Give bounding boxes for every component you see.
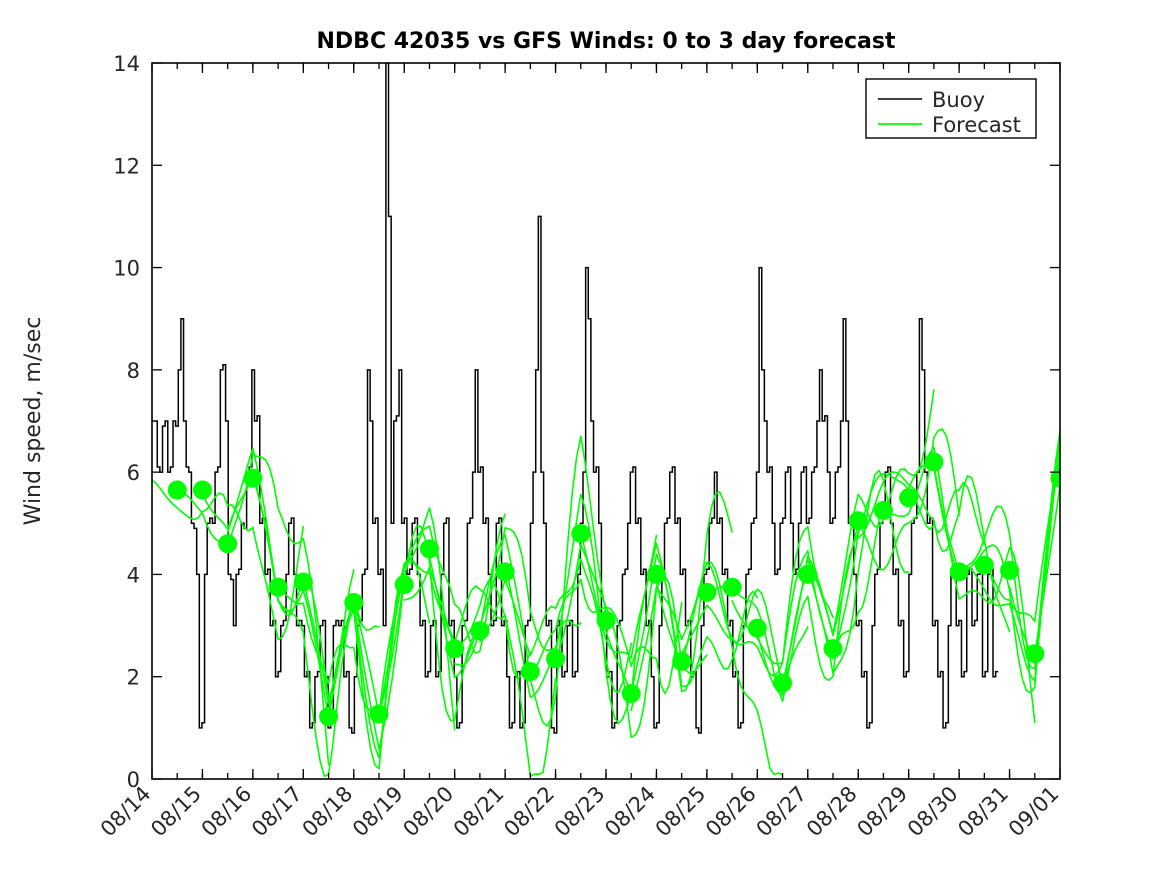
y-tick-label: 12 bbox=[113, 154, 140, 178]
forecast-marker-dot bbox=[571, 524, 590, 543]
chart-canvas: NDBC 42035 vs GFS Winds: 0 to 3 day fore… bbox=[0, 0, 1167, 875]
y-tick-label: 8 bbox=[127, 359, 140, 383]
chart-title: NDBC 42035 vs GFS Winds: 0 to 3 day fore… bbox=[317, 29, 896, 54]
y-tick-label: 4 bbox=[127, 563, 140, 587]
forecast-marker-dot bbox=[697, 583, 716, 602]
forecast-marker-dot bbox=[370, 705, 389, 724]
forecast-marker-dot bbox=[975, 556, 994, 575]
forecast-marker-dot bbox=[243, 469, 262, 488]
forecast-marker-dot bbox=[470, 621, 489, 640]
forecast-marker-dot bbox=[395, 575, 414, 594]
forecast-marker-dot bbox=[344, 593, 363, 612]
forecast-marker-dot bbox=[748, 619, 767, 638]
forecast-marker-dot bbox=[597, 611, 616, 630]
forecast-marker-dot bbox=[445, 639, 464, 658]
forecast-marker-dot bbox=[647, 565, 666, 584]
forecast-marker-dot bbox=[1025, 644, 1044, 663]
chart-legend[interactable]: Buoy Forecast bbox=[866, 79, 1036, 138]
forecast-marker-dot bbox=[193, 481, 212, 500]
y-tick-label: 6 bbox=[127, 461, 140, 485]
forecast-marker-dot bbox=[521, 662, 540, 681]
forecast-marker-dot bbox=[496, 562, 515, 581]
forecast-marker-dot bbox=[874, 501, 893, 520]
y-axis-label: Wind speed, m/sec bbox=[21, 317, 46, 526]
legend-label-buoy: Buoy bbox=[932, 88, 985, 112]
forecast-marker-dot bbox=[294, 573, 313, 592]
forecast-marker-dot bbox=[218, 534, 237, 553]
forecast-marker-dot bbox=[269, 578, 288, 597]
forecast-marker-dot bbox=[950, 562, 969, 581]
forecast-marker-dot bbox=[168, 481, 187, 500]
chart-figure: NDBC 42035 vs GFS Winds: 0 to 3 day fore… bbox=[0, 0, 1167, 875]
y-tick-label: 14 bbox=[113, 52, 140, 76]
y-tick-label: 2 bbox=[127, 666, 140, 690]
forecast-marker-dot bbox=[723, 578, 742, 597]
forecast-marker-dot bbox=[546, 649, 565, 668]
forecast-marker-dot bbox=[798, 565, 817, 584]
forecast-marker-dot bbox=[899, 488, 918, 507]
forecast-marker-dot bbox=[924, 452, 943, 471]
forecast-marker-dot bbox=[420, 539, 439, 558]
y-tick-label: 10 bbox=[113, 257, 140, 281]
forecast-marker-dot bbox=[672, 652, 691, 671]
forecast-marker-dot bbox=[849, 511, 868, 530]
legend-label-forecast: Forecast bbox=[932, 113, 1021, 137]
forecast-marker-dot bbox=[1000, 561, 1019, 580]
forecast-marker-dot bbox=[773, 673, 792, 692]
forecast-marker-dot bbox=[622, 684, 641, 703]
forecast-marker-dot bbox=[319, 707, 338, 726]
forecast-marker-dot bbox=[824, 639, 843, 658]
